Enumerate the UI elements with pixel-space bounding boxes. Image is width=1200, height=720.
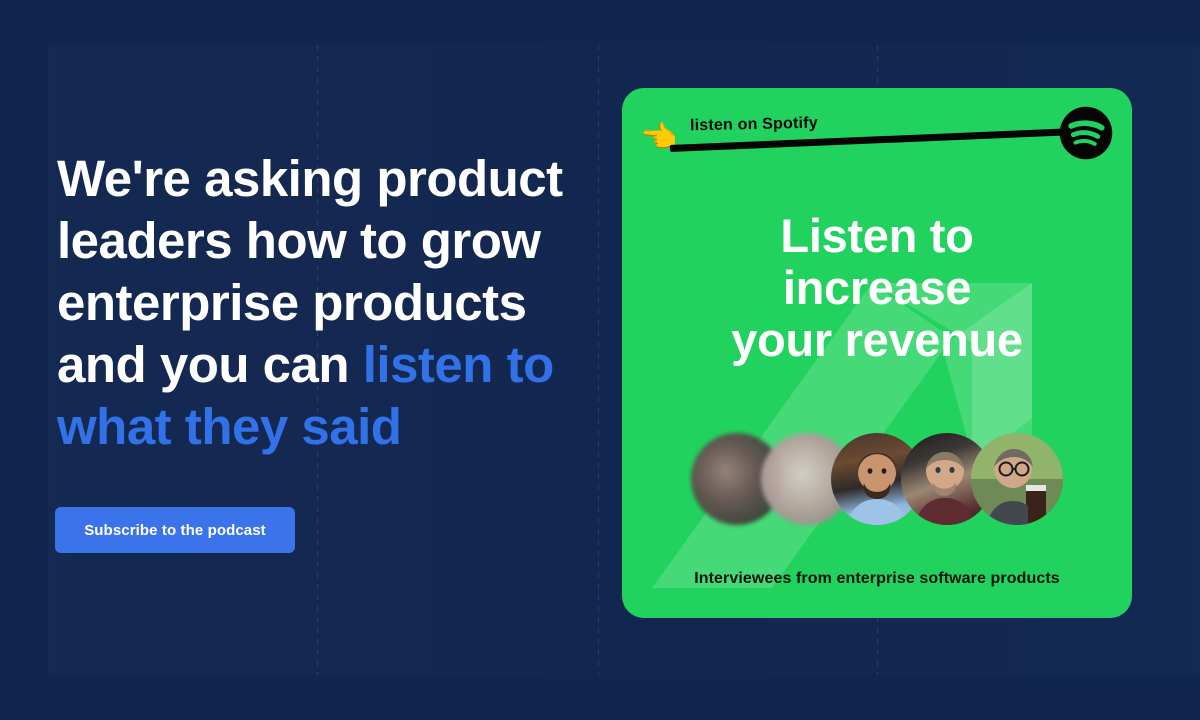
page-title: We're asking product leaders how to grow… [57, 148, 587, 458]
avatar-interviewee-3 [971, 433, 1063, 525]
card-title-line-1: Listen to [634, 210, 1120, 262]
card-title-line-2: increase [634, 262, 1120, 314]
listen-on-spotify-label: listen on Spotify [690, 115, 818, 136]
subscribe-to-podcast-button[interactable]: Subscribe to the podcast [55, 507, 295, 553]
spotify-promo-card[interactable]: 👈 listen on Spotify Listen to increase y… [622, 88, 1132, 618]
hero-text-block: We're asking product leaders how to grow… [57, 148, 587, 458]
interviewee-avatar-group [622, 433, 1132, 525]
card-title: Listen to increase your revenue [622, 210, 1132, 366]
spotify-logo-icon[interactable] [1058, 105, 1114, 161]
subscribe-button-label: Subscribe to the podcast [84, 522, 266, 539]
spotify-link-row[interactable]: 👈 listen on Spotify [622, 88, 1132, 178]
grid-line-2 [598, 45, 599, 675]
card-caption: Interviewees from enterprise software pr… [622, 570, 1132, 588]
landing-page: We're asking product leaders how to grow… [0, 0, 1200, 720]
card-title-line-3: your revenue [634, 314, 1120, 366]
